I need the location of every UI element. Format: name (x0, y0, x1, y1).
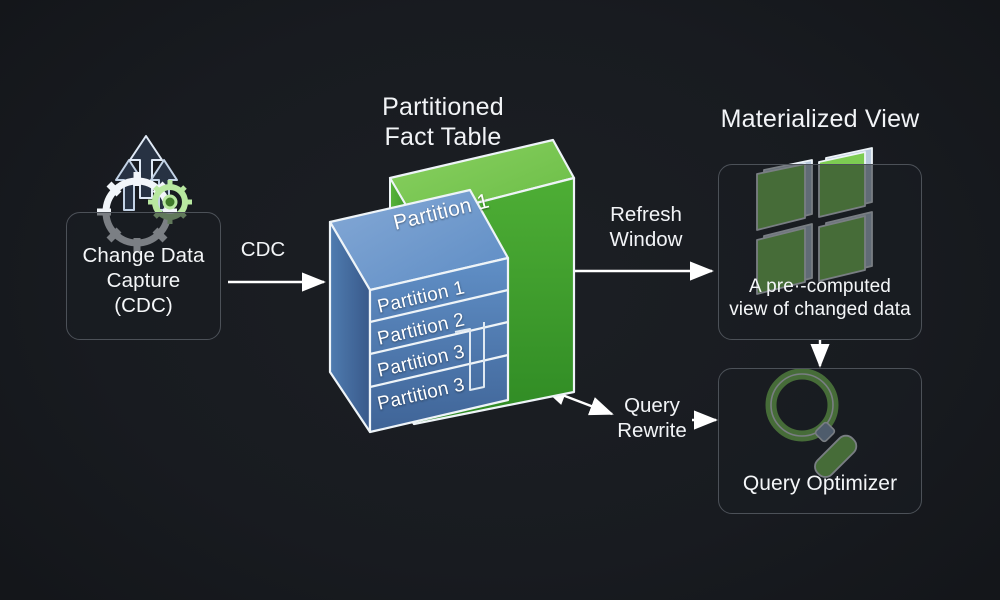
edge-label-cdc: CDC (208, 238, 318, 263)
up-arrow-small-right (151, 160, 177, 210)
blue-block-side (330, 222, 370, 432)
query-optimizer-label: Query Optimizer (719, 471, 921, 497)
cdc-label: Change Data Capture (CDC) (67, 243, 220, 318)
up-arrow-small-left (116, 160, 142, 210)
fact-table-title: Partitioned Fact Table (318, 92, 568, 152)
materialized-view-caption: A pre·-computed view of changed data (719, 275, 921, 321)
node-change-data-capture[interactable]: Change Data Capture (CDC) (66, 212, 221, 340)
node-query-optimizer[interactable]: Query Optimizer (718, 368, 922, 514)
edge-label-refresh-window: Refresh Window (580, 203, 712, 252)
green-slab-label: Partition 1 (391, 189, 492, 235)
up-arrow-tall-center (130, 136, 162, 198)
node-materialized-view[interactable]: A pre·-computed view of changed data (718, 164, 922, 340)
materialized-view-title: Materialized View (690, 104, 950, 134)
arrow-table-query-rewrite (544, 388, 612, 414)
edge-label-query-rewrite: Query Rewrite (606, 394, 698, 443)
diagram-canvas: Partition 1 Partition 1 Partition 2 Part… (0, 0, 1000, 600)
